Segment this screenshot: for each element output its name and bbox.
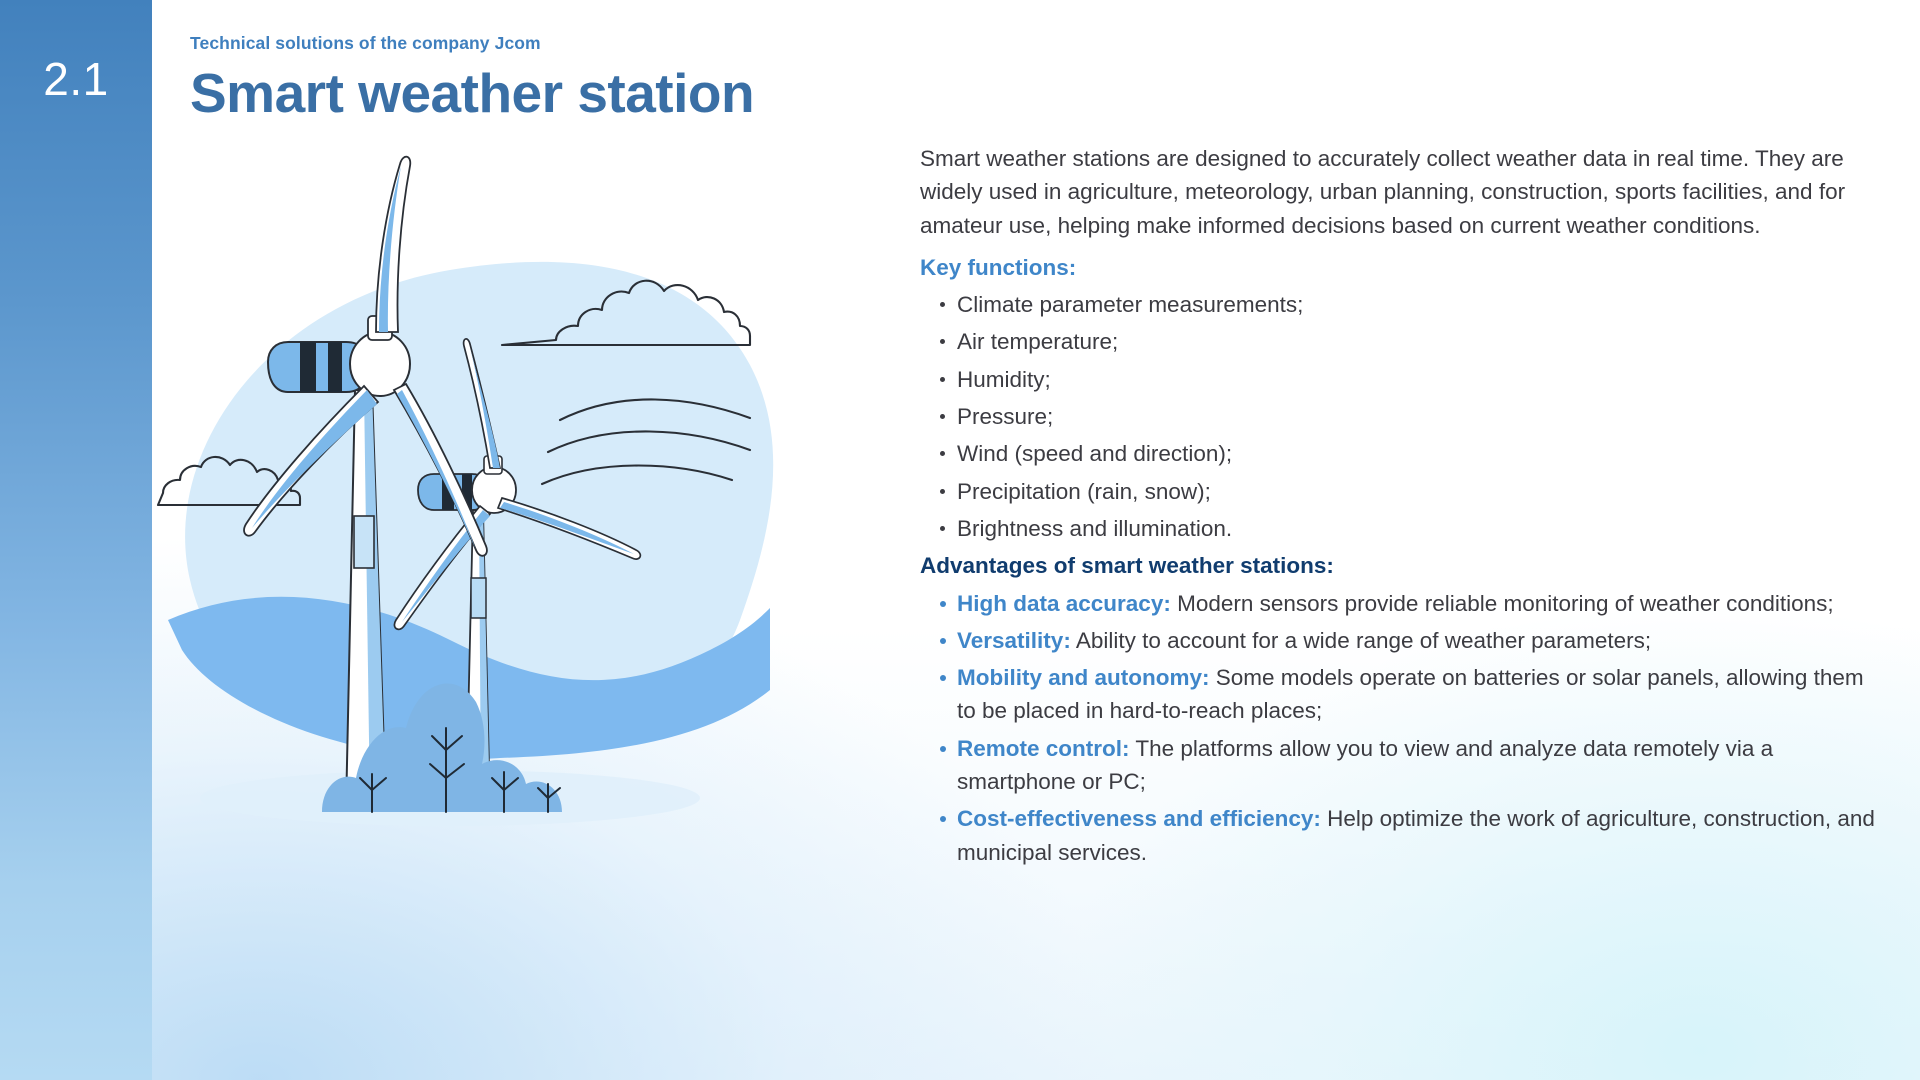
key-functions-heading: Key functions: [920,251,1880,284]
list-item-text: Air temperature; [957,329,1118,354]
list-item: Remote control: The platforms allow you … [920,732,1880,799]
advantage-lead: Versatility: [957,628,1071,653]
list-item: Versatility: Ability to account for a wi… [920,624,1880,657]
list-item: Cost-effectiveness and efficiency: Help … [920,802,1880,869]
list-item: Pressure; [920,400,1880,433]
list-item: Mobility and autonomy: Some models opera… [920,661,1880,728]
list-item: Climate parameter measurements; [920,288,1880,321]
body-content: Smart weather stations are designed to a… [920,142,1880,873]
list-item: Air temperature; [920,325,1880,358]
section-accent-bar [0,0,152,1080]
list-item: High data accuracy: Modern sensors provi… [920,587,1880,620]
list-item-text: Climate parameter measurements; [957,292,1303,317]
list-item: Wind (speed and direction); [920,437,1880,470]
advantage-text: Modern sensors provide reliable monitori… [1171,591,1834,616]
list-item-text: Precipitation (rain, snow); [957,479,1211,504]
list-item: Brightness and illumination. [920,512,1880,545]
advantage-lead: Cost-effectiveness and efficiency: [957,806,1321,831]
slide-canvas: 2.1 Technical solutions of the company J… [0,0,1920,1080]
section-number: 2.1 [0,56,152,102]
list-item: Precipitation (rain, snow); [920,475,1880,508]
advantage-lead: Remote control: [957,736,1130,761]
eyebrow-label: Technical solutions of the company Jcom [190,33,541,54]
advantages-list: High data accuracy: Modern sensors provi… [920,587,1880,869]
list-item-text: Wind (speed and direction); [957,441,1232,466]
intro-paragraph: Smart weather stations are designed to a… [920,142,1880,242]
list-item: Humidity; [920,363,1880,396]
list-item-text: Pressure; [957,404,1053,429]
list-item-text: Brightness and illumination. [957,516,1232,541]
advantage-lead: Mobility and autonomy: [957,665,1210,690]
wind-turbines-illustration [150,150,910,980]
advantages-heading: Advantages of smart weather stations: [920,549,1880,582]
list-item-text: Humidity; [957,367,1051,392]
advantage-lead: High data accuracy: [957,591,1171,616]
advantage-text: Ability to account for a wide range of w… [1071,628,1651,653]
key-functions-list: Climate parameter measurements; Air temp… [920,288,1880,545]
page-title: Smart weather station [190,64,754,123]
